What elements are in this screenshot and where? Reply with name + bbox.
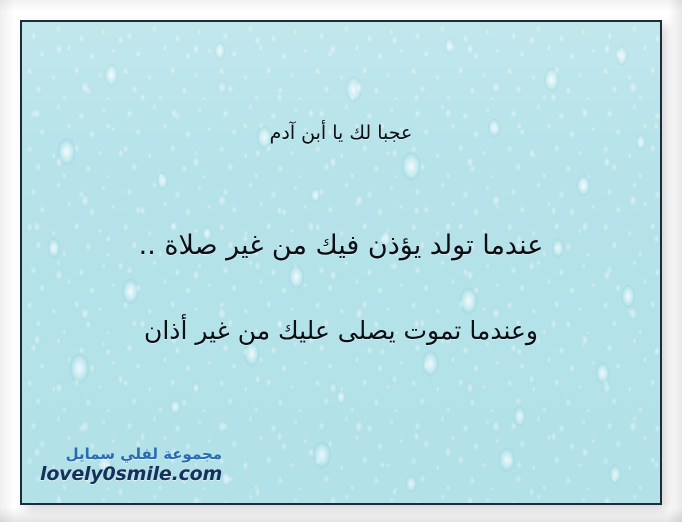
picture-frame: عجبا لك يا أبن آدم عندما تولد يؤذن فيك م… [20,20,662,505]
quote-line-1: عجبا لك يا أبن آدم [22,122,660,144]
quote-line-2: عندما تولد يؤذن فيك من غير صلاة .. [22,230,660,261]
watermark-arabic-label: مجموعة لفلي سمايل [40,447,222,463]
watermark-url-label: lovely0smile.com [40,465,222,485]
watermark: مجموعة لفلي سمايل lovely0smile.com [40,447,222,485]
quote-block: عجبا لك يا أبن آدم عندما تولد يؤذن فيك م… [22,22,660,503]
image-canvas: عجبا لك يا أبن آدم عندما تولد يؤذن فيك م… [0,0,682,522]
quote-line-3: وعندما تموت يصلى عليك من غير أذان [22,316,660,345]
